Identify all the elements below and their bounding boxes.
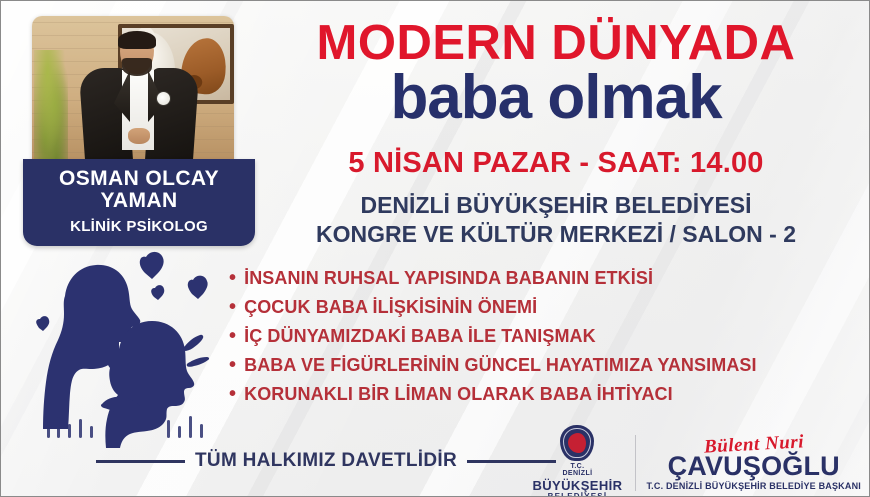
speaker-hand (128, 128, 150, 144)
municipality-sub: BELEDİYESİ (548, 492, 608, 497)
headline-secondary: baba olmak (256, 67, 856, 129)
topic-label: İNSANIN RUHSAL YAPISINDA BABANIN ETKİSİ (244, 268, 653, 289)
bullet-icon: • (229, 326, 236, 346)
footer-logos: T.C. DENİZLİ BÜYÜKŞEHİR BELEDİYESİ Bülen… (529, 425, 861, 497)
topic-label: BABA VE FİGÜRLERİNİN GÜNCEL HAYATIMIZA Y… (244, 355, 757, 376)
mayor-title: T.C. DENİZLİ BÜYÜKŞEHİR BELEDİYE BAŞKANI (646, 481, 861, 491)
municipality-logo: T.C. DENİZLİ BÜYÜKŞEHİR BELEDİYESİ (529, 425, 625, 497)
speaker-photo (32, 16, 234, 166)
list-item: • BABA VE FİGÜRLERİNİN GÜNCEL HAYATIMIZA… (229, 355, 869, 376)
list-item: • İNSANIN RUHSAL YAPISINDA BABANIN ETKİS… (229, 268, 869, 289)
venue-line-2: KONGRE VE KÜLTÜR MERKEZİ / SALON - 2 (256, 220, 856, 249)
topic-label: İÇ DÜNYAMIZDAKİ BABA İLE TANIŞMAK (244, 326, 596, 347)
event-venue: DENİZLİ BÜYÜKŞEHİR BELEDİYESİ KONGRE VE … (256, 191, 856, 249)
speaker-role: KLİNİK PSİKOLOG (29, 218, 249, 235)
venue-line-1: DENİZLİ BÜYÜKŞEHİR BELEDİYESİ (256, 191, 856, 220)
bullet-icon: • (229, 355, 236, 375)
topic-label: KORUNAKLI BİR LİMAN OLARAK BABA İHTİYACI (244, 384, 673, 405)
boutonniere-icon (157, 92, 170, 105)
municipality-crest-lines: T.C. DENİZLİ (562, 463, 592, 478)
topic-list: • İNSANIN RUHSAL YAPISINDA BABANIN ETKİS… (229, 268, 869, 413)
rooster-crest-icon (560, 425, 594, 461)
mayor-last-name: ÇAVUŞOĞLU (668, 452, 840, 480)
speaker-name: OSMAN OLCAY YAMAN (29, 168, 249, 213)
speaker-figure (84, 34, 194, 166)
bullet-icon: • (229, 384, 236, 404)
topic-label: ÇOCUK BABA İLİŞKİSİNİN ÖNEMİ (244, 297, 537, 318)
speaker-hair (118, 31, 156, 49)
municipality-name: BÜYÜKŞEHİR (532, 479, 622, 493)
invitation-row: TÜM HALKIMIZ DAVETLİDİR (96, 450, 556, 472)
potted-plant (34, 50, 68, 166)
speaker-beard (122, 58, 152, 76)
event-datetime: 5 NİSAN PAZAR - SAAT: 14.00 (256, 147, 856, 180)
divider-left (96, 460, 185, 463)
father-child-silhouette (7, 244, 239, 449)
event-poster: OSMAN OLCAY YAMAN KLİNİK PSİKOLOG (0, 0, 870, 497)
rooster-icon (568, 433, 586, 453)
headline-primary: MODERN DÜNYADA (256, 19, 856, 68)
mayor-first-name: Bülent Nuri (703, 432, 804, 456)
bullet-icon: • (229, 268, 236, 288)
speaker-name-plate: OSMAN OLCAY YAMAN KLİNİK PSİKOLOG (23, 159, 255, 246)
footer-divider (635, 435, 636, 491)
list-item: • KORUNAKLI BİR LİMAN OLARAK BABA İHTİYA… (229, 384, 869, 405)
list-item: • ÇOCUK BABA İLİŞKİSİNİN ÖNEMİ (229, 297, 869, 318)
bullet-icon: • (229, 297, 236, 317)
mayor-signature: Bülent Nuri ÇAVUŞOĞLU T.C. DENİZLİ BÜYÜK… (646, 435, 861, 491)
list-item: • İÇ DÜNYAMIZDAKİ BABA İLE TANIŞMAK (229, 326, 869, 347)
invitation-text: TÜM HALKIMIZ DAVETLİDİR (195, 450, 457, 472)
